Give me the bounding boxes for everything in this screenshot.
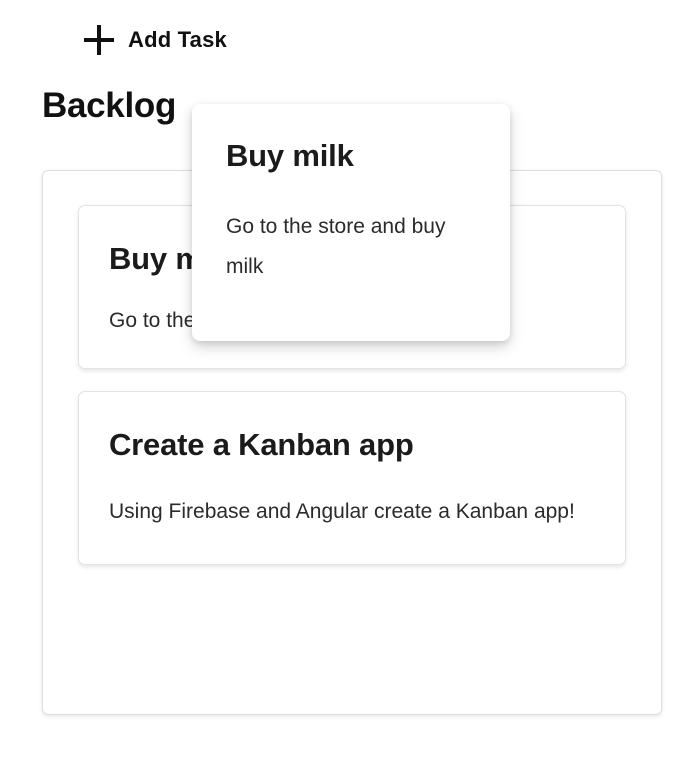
add-task-button[interactable]: Add Task (70, 18, 243, 62)
task-card-description: Using Firebase and Angular create a Kanb… (109, 492, 595, 532)
drag-preview-title: Buy milk (226, 137, 476, 175)
add-task-label: Add Task (128, 27, 227, 53)
plus-icon (84, 25, 114, 55)
drag-preview-description: Go to the store and buy milk (226, 207, 476, 287)
task-card[interactable]: Create a Kanban app Using Firebase and A… (78, 391, 626, 565)
task-card-title: Create a Kanban app (109, 426, 595, 464)
drag-preview-card[interactable]: Buy milk Go to the store and buy milk (192, 104, 510, 341)
